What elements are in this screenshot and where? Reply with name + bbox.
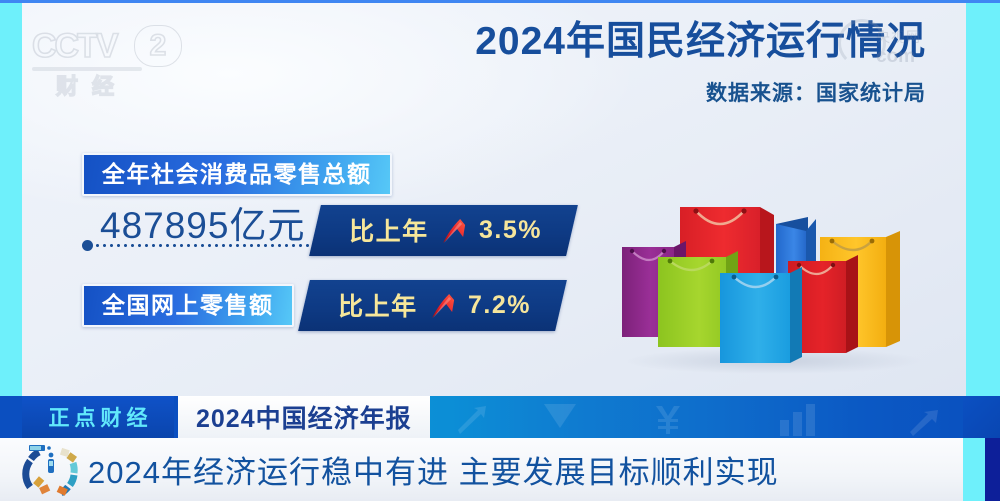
- stat-label-online-retail: 全国网上零售额: [82, 284, 294, 327]
- cctv2-channel-logo: CCTV 2 财经: [30, 25, 200, 95]
- cctv-wordmark: CCTV: [32, 27, 117, 66]
- title-block: 2024年国民经济运行情况 数据来源：国家统计局: [475, 19, 926, 107]
- banner-right-cap: [963, 396, 1000, 438]
- stat-label-retail-total: 全年社会消费品零售总额: [82, 153, 392, 196]
- dotted-underline: [94, 244, 315, 247]
- page-title: 2024年国民经济运行情况: [475, 19, 926, 65]
- program-name-tag: 正点财经: [22, 396, 174, 438]
- stat-percent-retail-total: 3.5%: [479, 216, 542, 245]
- tv-broadcast-frame: CCTV 2 财经 央视网 com 2024年国民经济运行情况 数据来源：国家统…: [0, 0, 1000, 501]
- stat-row-online-retail: 全国网上零售额 比上年 7.2%: [82, 280, 572, 331]
- cctv-logo-rule: [32, 67, 142, 71]
- up-arrow-icon: [441, 215, 467, 245]
- stat-value-line-retail-total: 487895亿元 比上年: [82, 205, 572, 256]
- left-accent-bar: [0, 0, 22, 396]
- stat-change-online-retail: 比上年 7.2%: [298, 280, 566, 331]
- up-arrow-icon: [429, 290, 455, 320]
- stat-change-retail-total: 比上年: [310, 205, 578, 256]
- bullet-dot-icon: [82, 240, 93, 251]
- stat-row-retail-total: 全年社会消费品零售总额 487895亿元 比上年: [82, 153, 572, 256]
- segmented-ring-logo: [18, 441, 86, 499]
- banner-icon-watermarks: [440, 396, 1000, 438]
- cctv-channel-number: 2: [134, 25, 182, 67]
- cctv-channel-name: 财经: [56, 69, 128, 101]
- infographic-slide: CCTV 2 财经 央视网 com 2024年国民经济运行情况 数据来源：国家统…: [22, 3, 966, 396]
- series-name-tag: 2024中国经济年报: [178, 396, 430, 438]
- compare-label-online-retail: 比上年: [338, 287, 418, 323]
- shopping-bags-illustration: [608, 189, 938, 379]
- bag-blue-front: [720, 267, 802, 363]
- stat-percent-online-retail: 7.2%: [467, 291, 530, 320]
- headline-cyan-cap: [963, 438, 985, 501]
- stat-value-wrapper: 487895亿元: [82, 207, 315, 254]
- stat-value-retail-total: 487895亿元: [100, 205, 305, 246]
- headline-navy-cap: [985, 438, 1000, 501]
- top-accent-line: [0, 0, 1000, 3]
- headline-bar: 2024年经济运行稳中有进 主要发展目标顺利实现: [0, 438, 963, 501]
- headline-text: 2024年经济运行稳中有进 主要发展目标顺利实现: [88, 447, 779, 492]
- compare-label-retail-total: 比上年: [350, 212, 430, 248]
- data-source-note: 数据来源：国家统计局: [475, 77, 926, 107]
- statistics-group: 全年社会消费品零售总额 487895亿元 比上年: [82, 153, 572, 331]
- right-accent-bar: [966, 0, 1000, 396]
